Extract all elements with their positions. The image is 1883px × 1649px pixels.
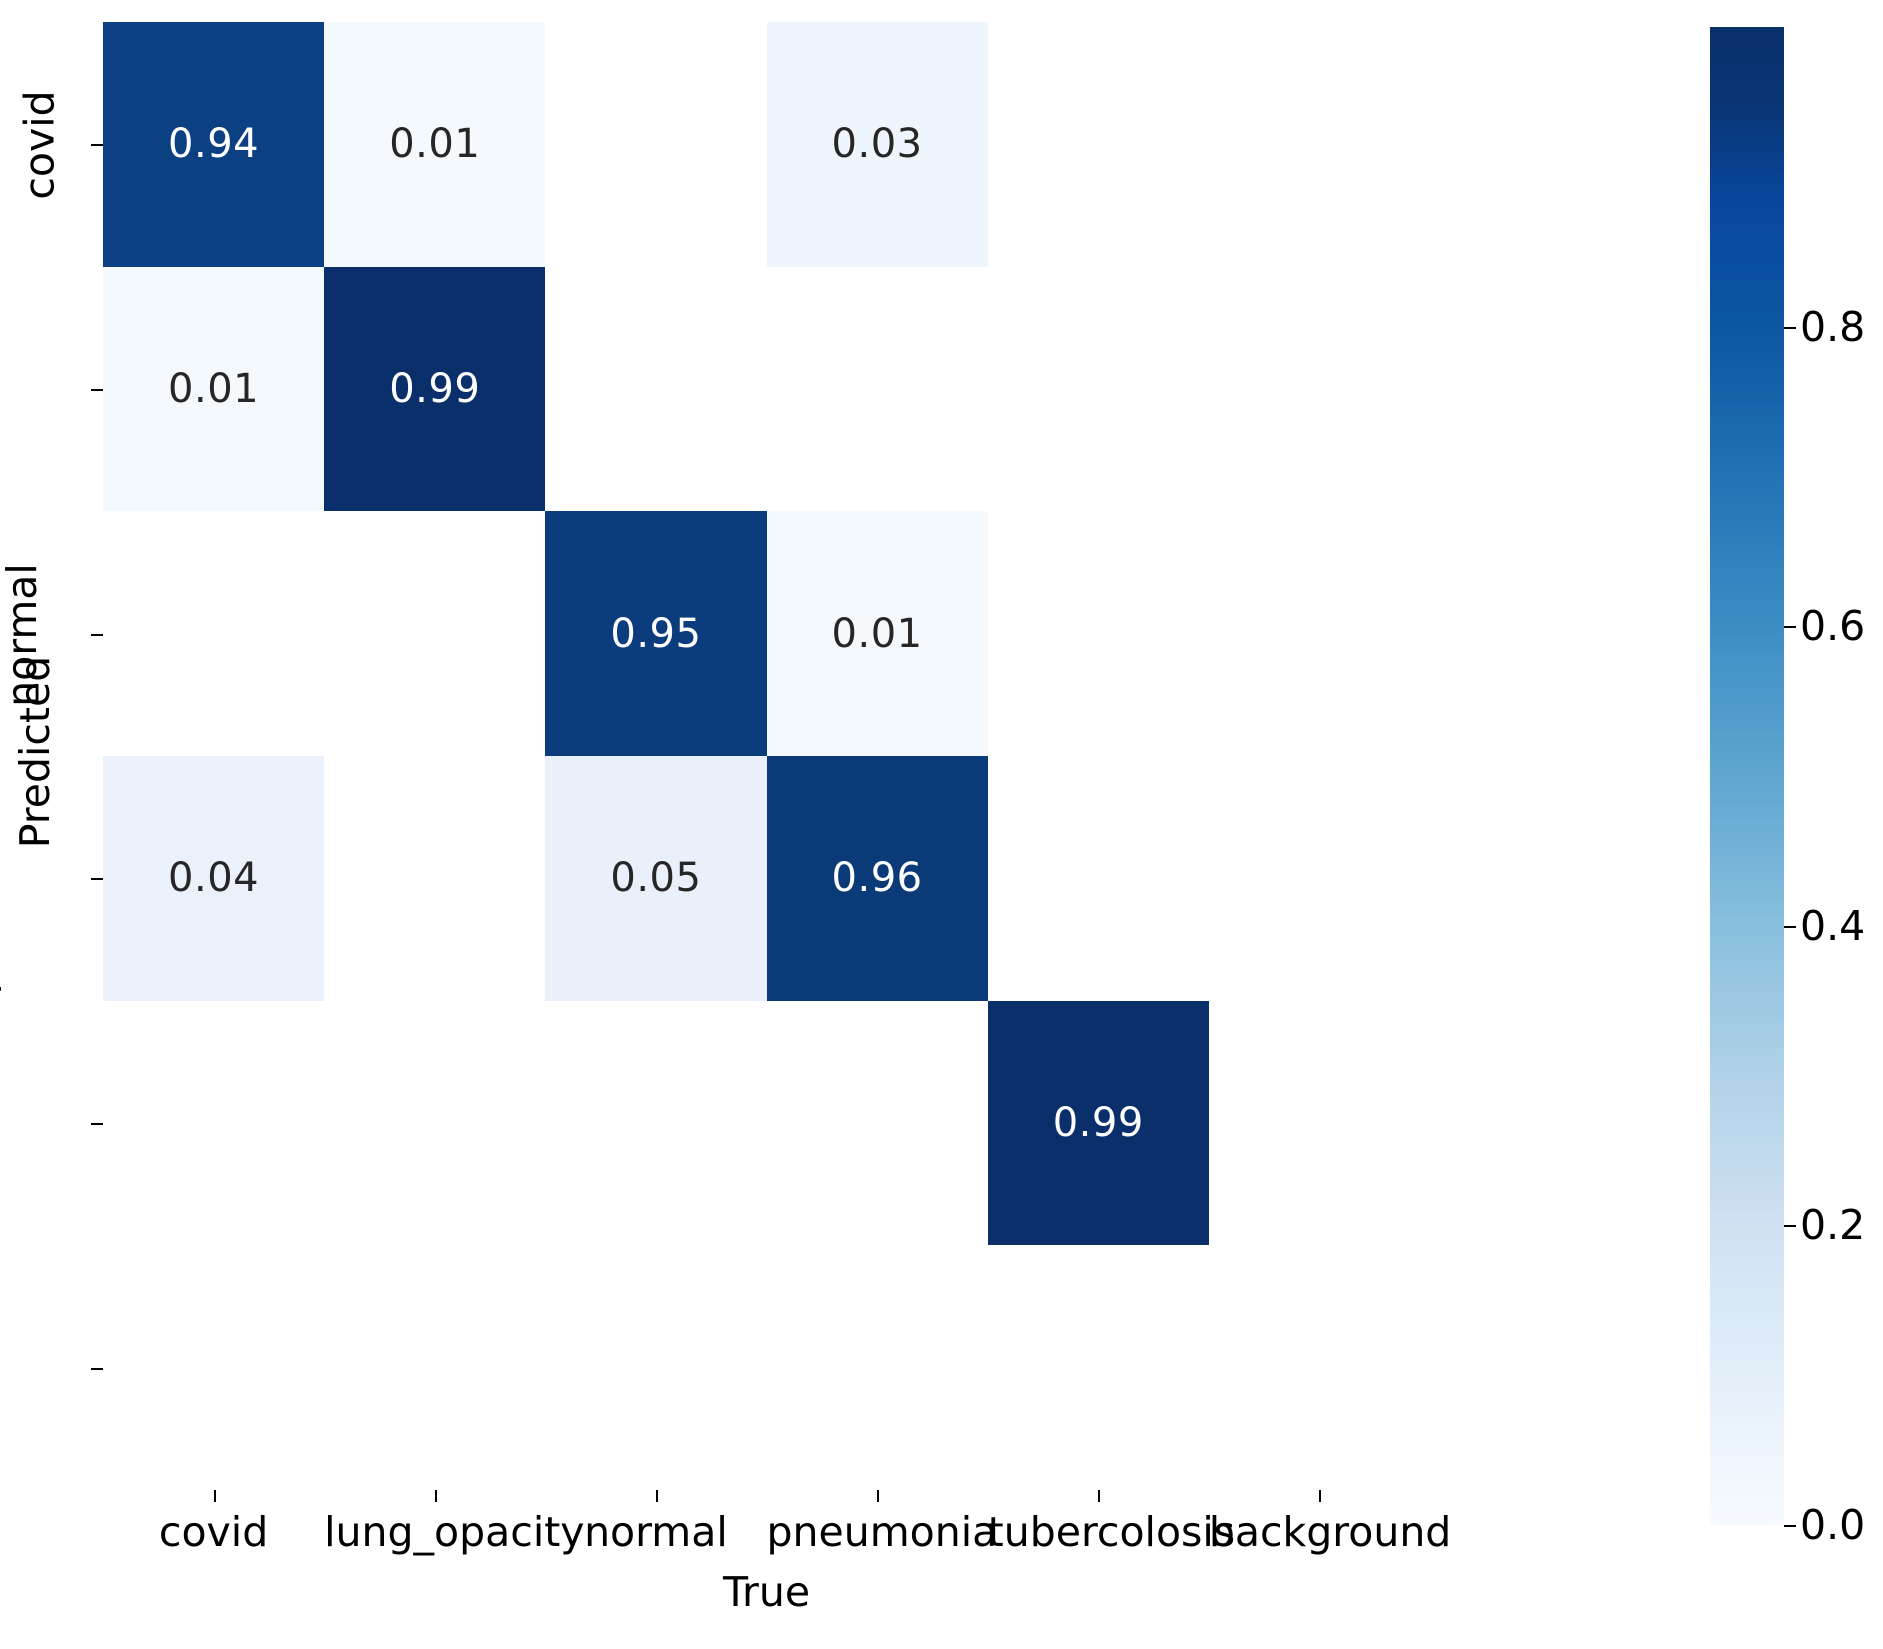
colorbar-tick-mark [1784,626,1796,628]
x-tick-mark [656,1490,658,1502]
y-tick-label: lung_opacity [0,267,95,512]
y-tick-mark [91,389,103,391]
heatmap-cell-value: 0.04 [168,858,259,898]
heatmap-cell [988,511,1209,756]
y-tick-label: tubercolosis [0,1001,95,1246]
y-tick-label: pneumonia [0,756,95,1001]
heatmap-cell-value: 0.96 [832,858,923,898]
y-tick-label: normal [0,511,95,756]
heatmap-cell [103,1001,324,1246]
heatmap-cell-value: 0.01 [168,369,259,409]
x-tick-label: pneumonia [767,1508,988,1556]
heatmap-cell [1209,1245,1430,1490]
confusion-matrix-figure: Predicted covidlung_opacitynormalpneumon… [0,0,1883,1649]
heatmap-cell: 0.01 [324,22,545,267]
heatmap-cell [1209,756,1430,1001]
y-tick-mark [91,634,103,636]
heatmap-cell [988,22,1209,267]
heatmap-cell-value: 0.94 [168,124,259,164]
heatmap-cell [324,1001,545,1246]
heatmap-cell-value: 0.01 [389,124,480,164]
heatmap-cell [324,1245,545,1490]
y-tick-label: covid [0,22,95,267]
y-axis-tick-labels: covidlung_opacitynormalpneumoniatubercol… [0,22,95,1490]
y-tick-mark [91,1123,103,1125]
y-tick-mark [91,144,103,146]
heatmap-cell [767,1001,988,1246]
heatmap-cell [545,1001,766,1246]
colorbar-tick-label: 0.6 [1800,602,1865,650]
colorbar-tick-label: 0.8 [1800,303,1865,351]
heatmap-cell: 0.99 [324,267,545,512]
x-tick-mark [1319,1490,1321,1502]
heatmap-cell [324,756,545,1001]
heatmap-cell: 0.96 [767,756,988,1001]
colorbar-tick-label: 0.4 [1800,902,1865,950]
heatmap-cell [324,511,545,756]
x-tick-label: lung_opacity [324,1508,545,1556]
colorbar-tick-mark [1784,926,1796,928]
colorbar-tick-mark [1784,1225,1796,1227]
colorbar-tick-mark [1784,327,1796,329]
heatmap-cell [545,22,766,267]
y-tick-label: background [0,1245,95,1490]
heatmap-cell [1209,511,1430,756]
heatmap-cell [988,756,1209,1001]
heatmap-cell [988,267,1209,512]
heatmap-cell: 0.94 [103,22,324,267]
colorbar-tick-label: 0.0 [1800,1501,1865,1549]
heatmap-cell [767,1245,988,1490]
heatmap-cell [103,1245,324,1490]
colorbar-tick-mark [1784,1525,1796,1527]
heatmap-cell-value: 0.03 [832,124,923,164]
heatmap-cell: 0.01 [767,511,988,756]
heatmap-cell-value: 0.95 [610,614,701,654]
heatmap-cell: 0.03 [767,22,988,267]
heatmap-cell-value: 0.99 [389,369,480,409]
heatmap-cell: 0.95 [545,511,766,756]
x-tick-mark [1098,1490,1100,1502]
heatmap-cell-value: 0.05 [610,858,701,898]
x-tick-mark [435,1490,437,1502]
y-tick-label-text: pneumonia [0,762,3,995]
heatmap-cell [545,267,766,512]
heatmap-cell: 0.99 [988,1001,1209,1246]
heatmap-cell [1209,1001,1430,1246]
x-tick-label: normal [545,1508,766,1556]
x-tick-label: background [1209,1508,1430,1556]
x-tick-mark [214,1490,216,1502]
heatmap-cell-value: 0.99 [1053,1103,1144,1143]
heatmap-cell [103,511,324,756]
heatmap-plot-area: 0.940.010.030.010.990.950.010.040.050.96… [103,22,1430,1490]
heatmap-cell: 0.04 [103,756,324,1001]
heatmap-cell [545,1245,766,1490]
x-axis-tick-labels: covidlung_opacitynormalpneumoniatubercol… [103,1490,1430,1560]
x-tick-mark [877,1490,879,1502]
heatmap-cell [1209,267,1430,512]
heatmap-cell-value: 0.01 [832,614,923,654]
y-tick-label-text: covid [15,89,63,200]
colorbar-tick-label: 0.2 [1800,1201,1865,1249]
heatmap-cell [988,1245,1209,1490]
y-tick-label-text: normal [0,561,46,707]
x-axis-label: True [103,1568,1430,1616]
heatmap-cell [767,267,988,512]
heatmap-cell: 0.05 [545,756,766,1001]
x-tick-label: covid [103,1508,324,1556]
x-tick-label: tubercolosis [988,1508,1209,1556]
heatmap-cell-grid: 0.940.010.030.010.990.950.010.040.050.96… [103,22,1430,1490]
heatmap-cell: 0.01 [103,267,324,512]
colorbar-gradient [1710,27,1784,1525]
y-tick-mark [91,878,103,880]
y-tick-mark [91,1368,103,1370]
heatmap-cell [1209,22,1430,267]
